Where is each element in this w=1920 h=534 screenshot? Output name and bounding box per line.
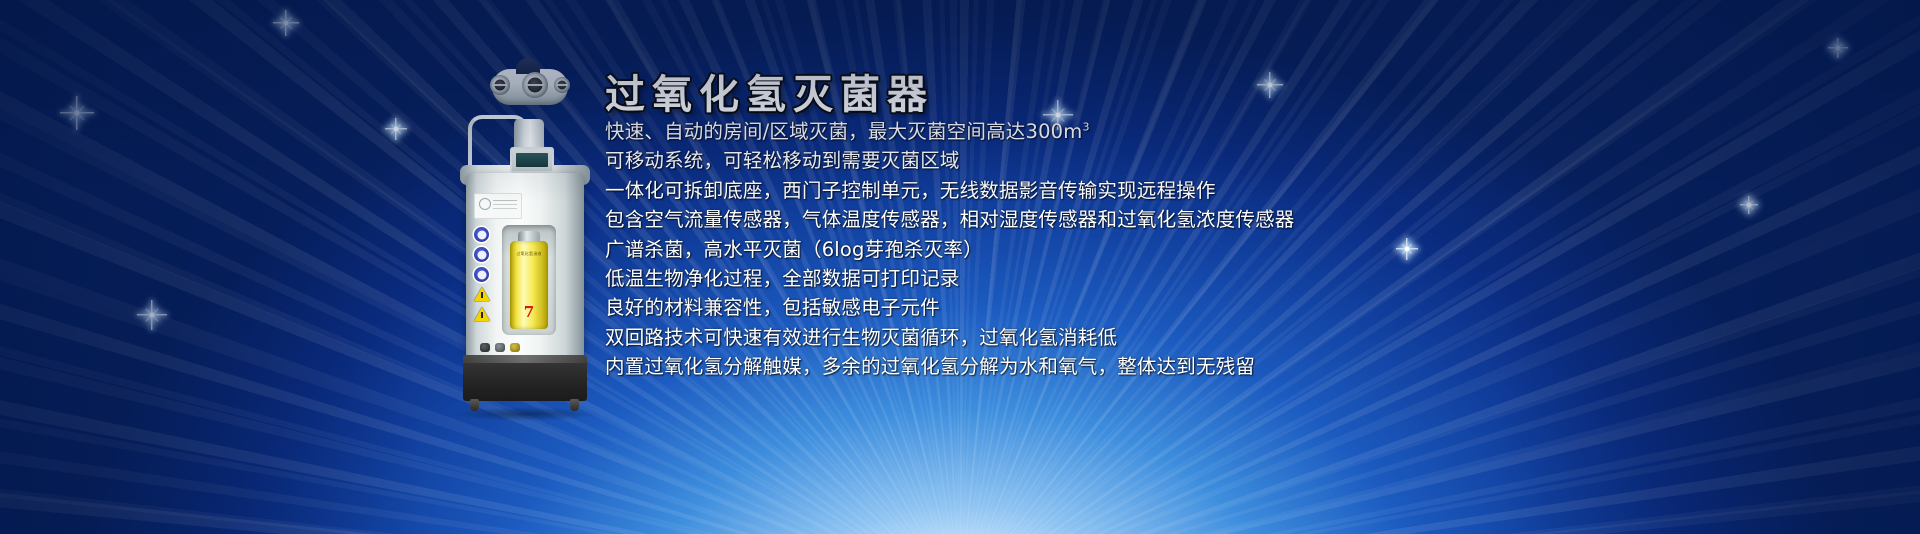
feature-list: 快速、自动的房间/区域灭菌，最大灭菌空间高达300m3可移动系统，可轻松移动到需… <box>605 117 1805 382</box>
page-title: 过氧化氢灭菌器 <box>605 62 934 120</box>
feature-line: 双回路技术可快速有效进行生物灭菌循环，过氧化氢消耗低 <box>605 323 1805 352</box>
nozzle-right-icon <box>554 77 570 93</box>
front-controls <box>480 343 526 353</box>
safety-sticker-noentry-icon <box>474 247 489 262</box>
spec-label <box>474 193 522 219</box>
bottle-number: 7 <box>510 303 548 321</box>
nozzle-center-icon <box>522 72 548 98</box>
caster-wheel-right <box>570 399 579 411</box>
feature-superscript: 3 <box>1083 121 1090 134</box>
control-display <box>510 147 554 173</box>
warning-triangle-icon-2 <box>474 307 490 321</box>
safety-sticker-gloves-icon <box>474 267 489 282</box>
feature-line: 广谱杀菌，高水平灭菌（6log芽孢杀灭率） <box>605 235 1805 264</box>
caster-wheel-left <box>470 399 479 411</box>
feature-line: 内置过氧化氢分解触媒，多余的过氧化氢分解为水和氧气，整体达到无残留 <box>605 352 1805 381</box>
safety-sticker-mask-icon <box>474 227 489 242</box>
cart-base-highlight <box>463 355 587 363</box>
control-knob-3 <box>510 343 520 352</box>
feature-line: 快速、自动的房间/区域灭菌，最大灭菌空间高达300m3 <box>605 117 1805 146</box>
feature-line: 可移动系统，可轻松移动到需要灭菌区域 <box>605 146 1805 175</box>
control-knob-2 <box>495 343 505 352</box>
feature-line: 一体化可拆卸底座，西门子控制单元，无线数据影音传输实现远程操作 <box>605 176 1805 205</box>
feature-line: 低温生物净化过程，全部数据可打印记录 <box>605 264 1805 293</box>
warning-triangle-icon-1 <box>474 287 490 301</box>
bottle-label-text: 过氧化氢溶液 <box>510 251 548 257</box>
feature-line: 包含空气流量传感器，气体温度传感器，相对湿度传感器和过氧化氢浓度传感器 <box>605 205 1805 234</box>
control-knob-1 <box>480 343 490 352</box>
peroxide-bottle: 过氧化氢溶液 7 <box>510 241 548 329</box>
product-image-sterilizer: 过氧化氢溶液 7 <box>430 55 620 385</box>
promo-banner: 过氧化氢溶液 7 过氧化氢灭菌器 快速、自动的房间/区域灭菌，最大灭菌空间高达3… <box>0 0 1920 534</box>
feature-line: 良好的材料兼容性，包括敏感电子元件 <box>605 293 1805 322</box>
nozzle-left-icon <box>490 75 510 95</box>
